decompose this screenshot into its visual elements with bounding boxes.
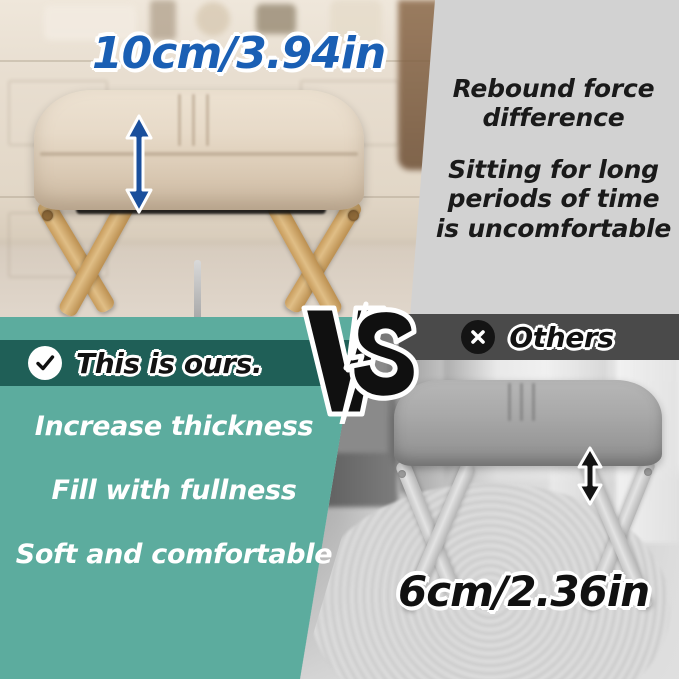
drawback-line-4: periods of time bbox=[448, 184, 660, 214]
benefit-1: Increase thickness bbox=[14, 412, 334, 442]
drawback-line-5: is uncomfortable bbox=[436, 214, 671, 244]
benefit-2: Fill with fullness bbox=[14, 476, 334, 506]
ours-band-label: This is ours. bbox=[76, 347, 262, 380]
drawback-line-1: Rebound force bbox=[453, 74, 655, 104]
check-circle-icon bbox=[28, 346, 62, 380]
ours-dimension-label: 10cm/3.94in bbox=[92, 28, 385, 79]
others-band-label: Others bbox=[509, 321, 613, 354]
comparison-infographic: 10cm/3.94in Rebound force difference Sit… bbox=[0, 0, 679, 679]
vs-lightning-icon bbox=[296, 296, 422, 424]
bamboo-stool-ours bbox=[28, 90, 373, 330]
others-drawbacks-text: Rebound force difference Sitting for lon… bbox=[398, 0, 679, 317]
drawback-line-2: difference bbox=[482, 103, 624, 133]
drawback-line-3: Sitting for long bbox=[448, 155, 659, 185]
x-circle-icon bbox=[461, 320, 495, 354]
others-label-band: Others bbox=[396, 314, 679, 360]
others-dimension-label: 6cm/2.36in bbox=[398, 567, 649, 616]
ours-height-arrow-icon bbox=[121, 112, 157, 216]
benefit-3: Soft and comfortable bbox=[14, 540, 334, 570]
others-height-arrow-icon bbox=[574, 445, 606, 507]
